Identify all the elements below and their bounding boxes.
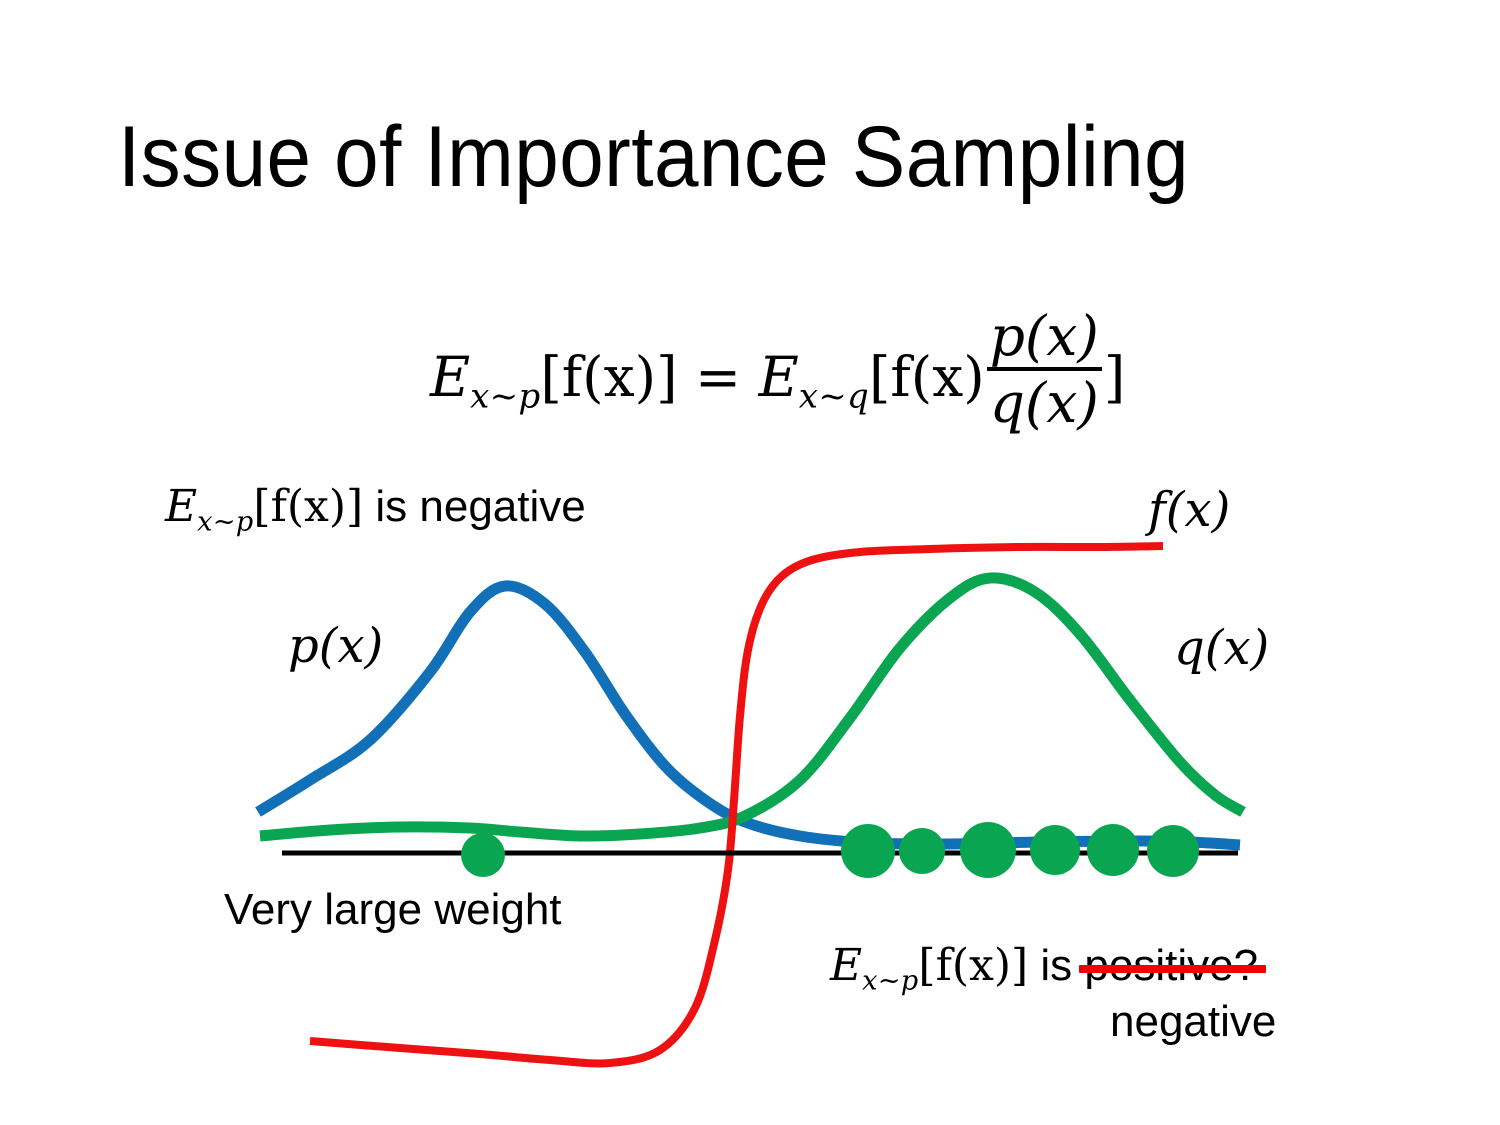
right-note-text: is xyxy=(1028,941,1084,990)
curve-label-q: q(x) xyxy=(1174,620,1269,676)
right-note-body: [f(x)] xyxy=(918,940,1028,991)
note-expectation-positive-struck: Ex~p[f(x)] is positive? xyxy=(830,940,1258,996)
curve-px xyxy=(258,586,1240,845)
struck-word-positive: positive? xyxy=(1084,941,1258,991)
left-note-E: E xyxy=(165,481,197,532)
sample-dot xyxy=(461,833,505,877)
sample-dot xyxy=(960,822,1016,878)
curve-label-p: p(x) xyxy=(288,618,383,674)
right-note-E: E xyxy=(830,940,862,991)
left-note-body: [f(x)] xyxy=(253,481,363,532)
left-note-subscript: x~p xyxy=(197,506,253,537)
caption-very-large-weight: Very large weight xyxy=(224,885,562,935)
sample-dot xyxy=(899,828,945,874)
sample-dot xyxy=(841,824,895,878)
right-note-subscript: x~p xyxy=(862,965,918,996)
strikethrough-line xyxy=(1079,965,1266,973)
note-correction-negative: negative xyxy=(1110,997,1276,1047)
sample-dot xyxy=(1030,825,1080,875)
curve-label-f: f(x) xyxy=(1148,482,1230,538)
left-note-text: is negative xyxy=(363,482,586,531)
importance-sampling-plot xyxy=(0,0,1500,1125)
sample-dot xyxy=(1147,825,1199,877)
sample-dot xyxy=(1087,824,1139,876)
note-expectation-negative: Ex~p[f(x)] is negative xyxy=(165,481,586,537)
